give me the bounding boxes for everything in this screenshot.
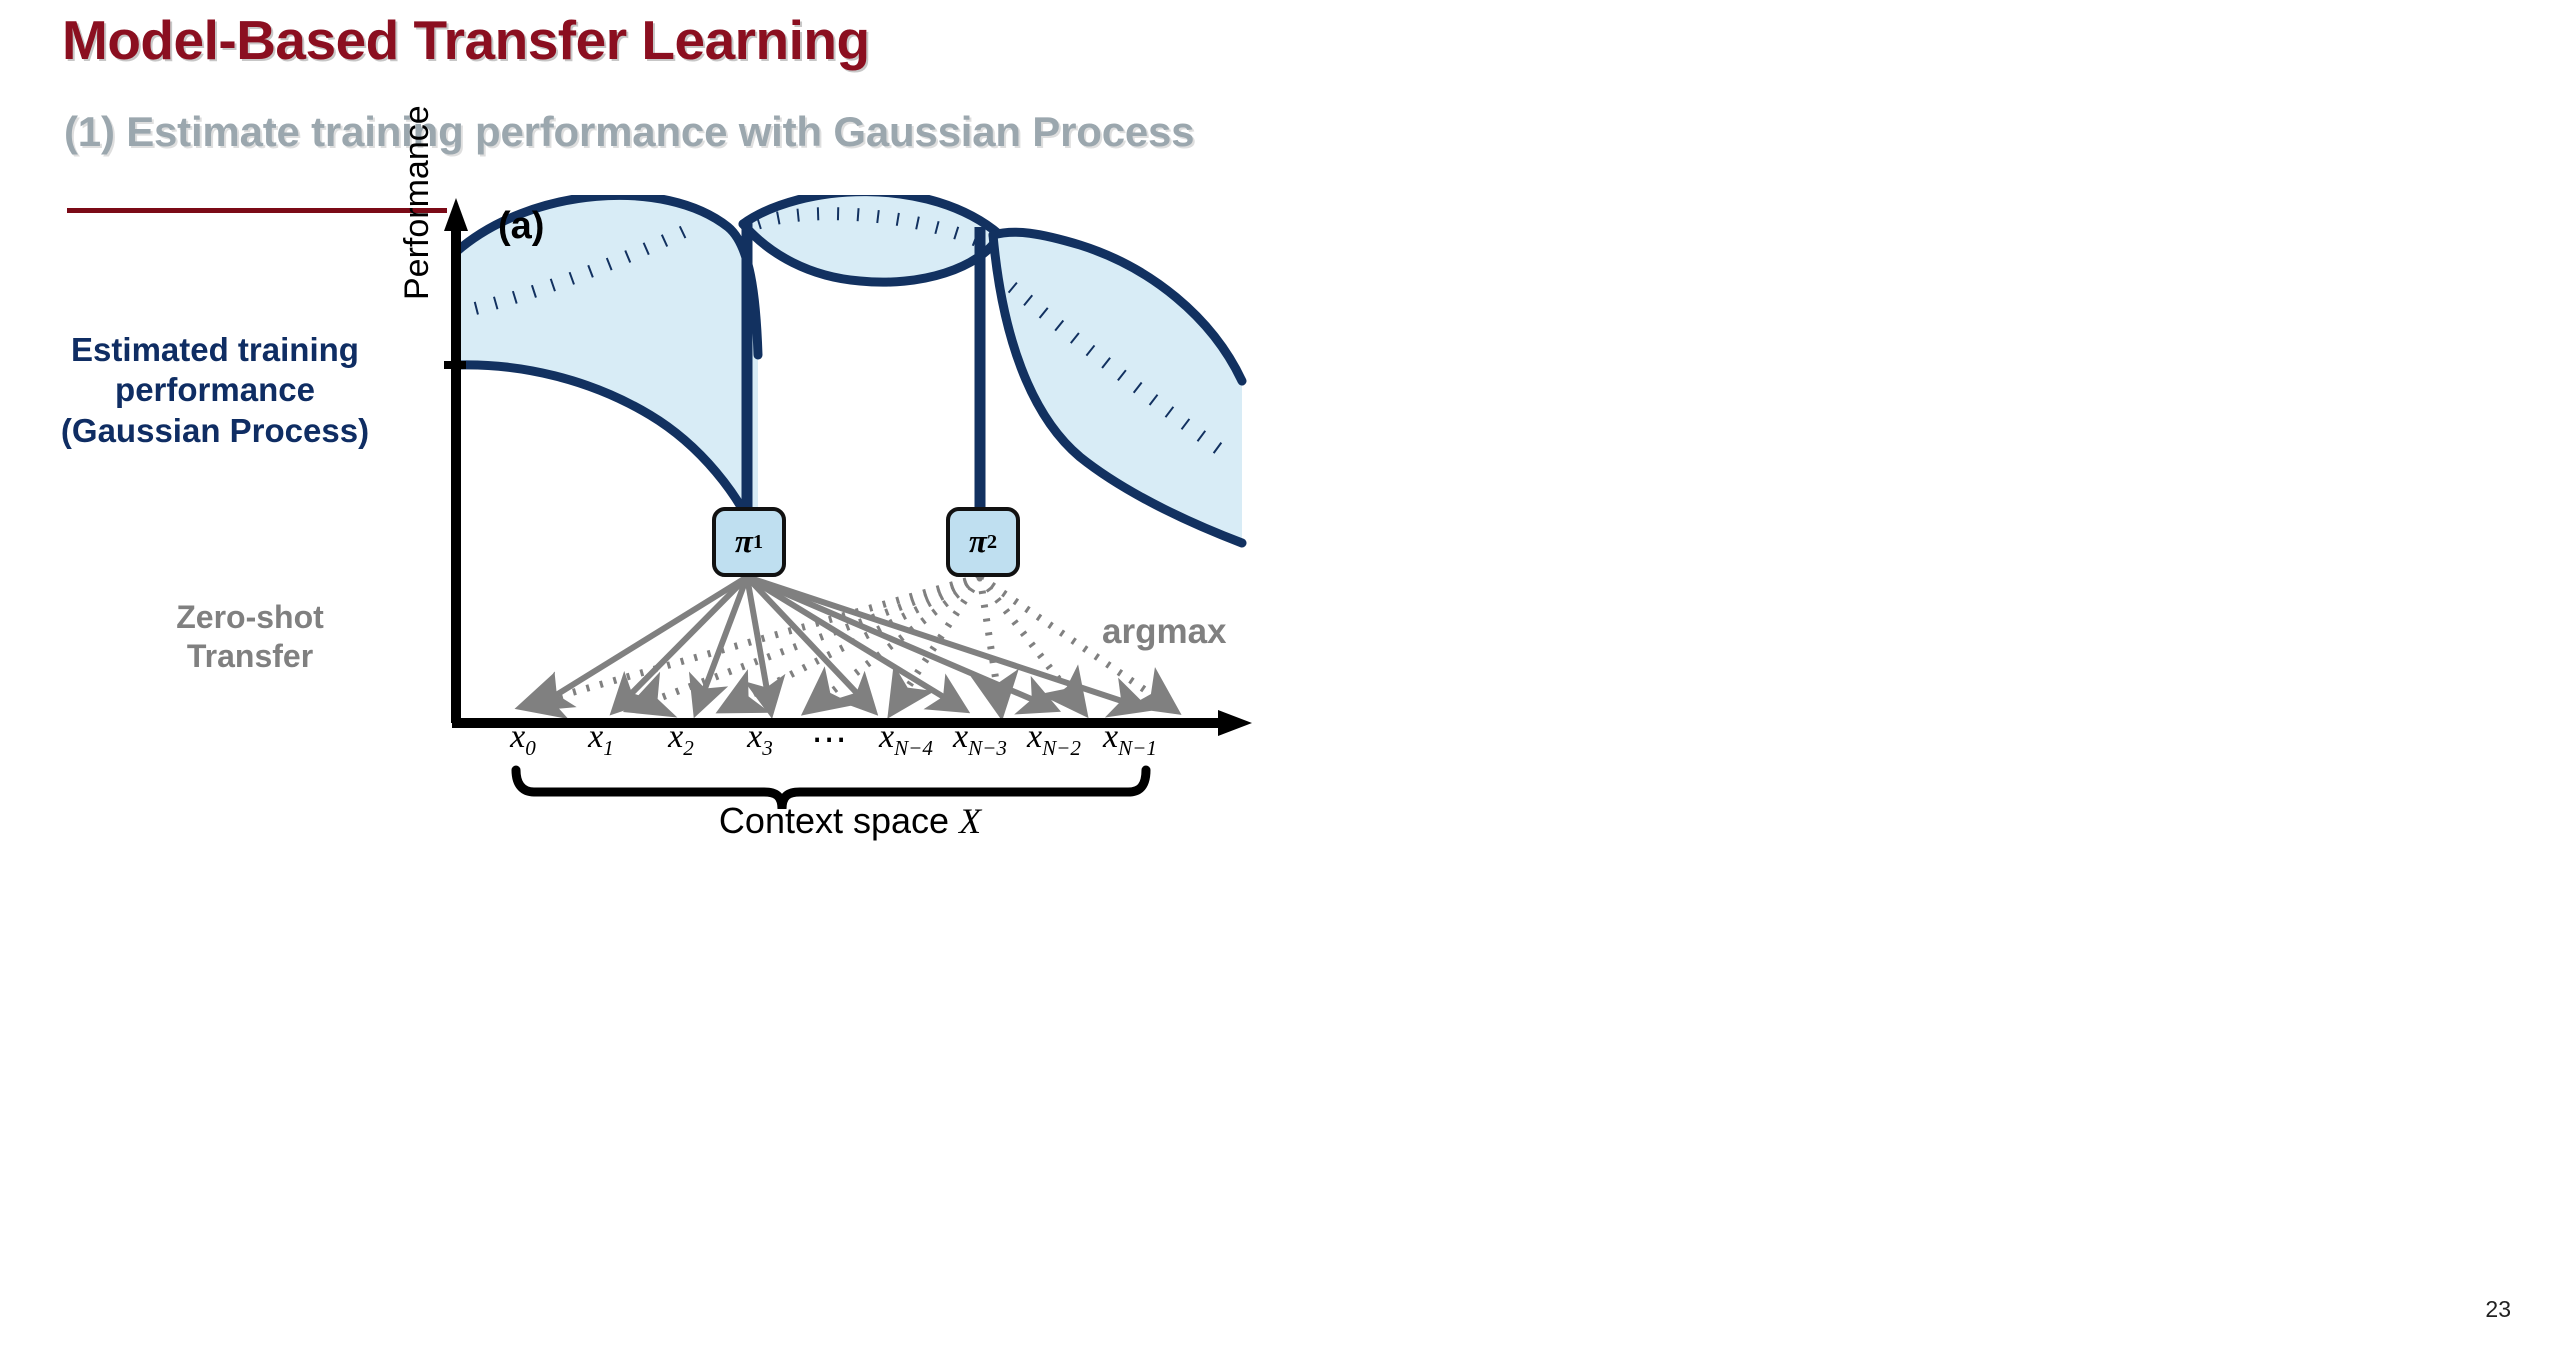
page-title: Model-Based Transfer Learning xyxy=(62,8,870,72)
x-tick-2: x2 xyxy=(651,718,711,761)
x-tick-ellipsis: ⋯ xyxy=(800,718,860,760)
y-axis-label: Performance xyxy=(398,105,437,300)
context-space-label: Context space X xyxy=(515,800,1185,842)
zero-shot-line-1: Zero-shot xyxy=(90,598,410,637)
gp-annotation-label: Estimated training performance (Gaussian… xyxy=(0,330,430,451)
x-tick-sub-n-4: N−4 xyxy=(894,736,933,760)
policy-symbol-pi-1: π xyxy=(735,524,753,561)
x-tick-sub-3: 3 xyxy=(762,736,773,760)
x-tick-n-1: xN−1 xyxy=(1080,718,1180,761)
x-tick-sub-n-3: N−3 xyxy=(968,736,1007,760)
context-space-text: Context space xyxy=(719,800,949,841)
slide: Model-Based Transfer Learning (1) Estima… xyxy=(0,0,2560,1358)
x-tick-sub-n-1: N−1 xyxy=(1118,736,1157,760)
policy-box-pi-2[interactable]: π2 xyxy=(946,507,1020,577)
x-tick-sub-0: 0 xyxy=(525,736,536,760)
x-tick-3: x3 xyxy=(730,718,790,761)
gp-annotation-line-3: (Gaussian Process) xyxy=(0,411,430,451)
gp-annotation-line-2: performance xyxy=(0,370,430,410)
x-axis-arrowhead xyxy=(1218,710,1252,736)
panel-letter-a: (a) xyxy=(498,205,544,248)
context-space-symbol: X xyxy=(959,801,981,841)
argmax-label: argmax xyxy=(1102,612,1227,652)
x-tick-sub-n-2: N−2 xyxy=(1042,736,1081,760)
gp-band-middle xyxy=(743,195,1000,282)
zero-shot-line-2: Transfer xyxy=(90,637,410,676)
x-tick-base-3: x xyxy=(747,718,762,755)
page-subtitle: (1) Estimate training performance with G… xyxy=(64,108,1194,156)
x-tick-base-1: x xyxy=(588,718,603,755)
x-tick-sub-1: 1 xyxy=(603,736,614,760)
x-tick-base-n-3: x xyxy=(953,718,968,755)
title-underline-rule xyxy=(67,208,447,213)
x-tick-0: x0 xyxy=(493,718,553,761)
page-number: 23 xyxy=(2485,1296,2511,1323)
x-tick-base-n-2: x xyxy=(1027,718,1042,755)
gp-band-policy-2 xyxy=(993,231,1242,543)
x-tick-sub-2: 2 xyxy=(683,736,694,760)
gp-annotation-line-1: Estimated training xyxy=(0,330,430,370)
policy-box-pi-1[interactable]: π1 xyxy=(712,507,786,577)
policy-index-pi-2: 2 xyxy=(987,531,997,554)
zero-shot-transfer-label: Zero-shot Transfer xyxy=(90,598,410,676)
x-tick-base-0: x xyxy=(510,718,525,755)
policy-index-pi-1: 1 xyxy=(753,531,763,554)
policy-symbol-pi-2: π xyxy=(969,524,987,561)
x-tick-base-n-1: x xyxy=(1103,718,1118,755)
x-tick-1: x1 xyxy=(571,718,631,761)
y-axis-arrowhead xyxy=(444,198,468,231)
argmax-arrows-from-policy-1 xyxy=(540,577,1140,707)
x-tick-base-2: x xyxy=(668,718,683,755)
x-tick-base-n-4: x xyxy=(879,718,894,755)
